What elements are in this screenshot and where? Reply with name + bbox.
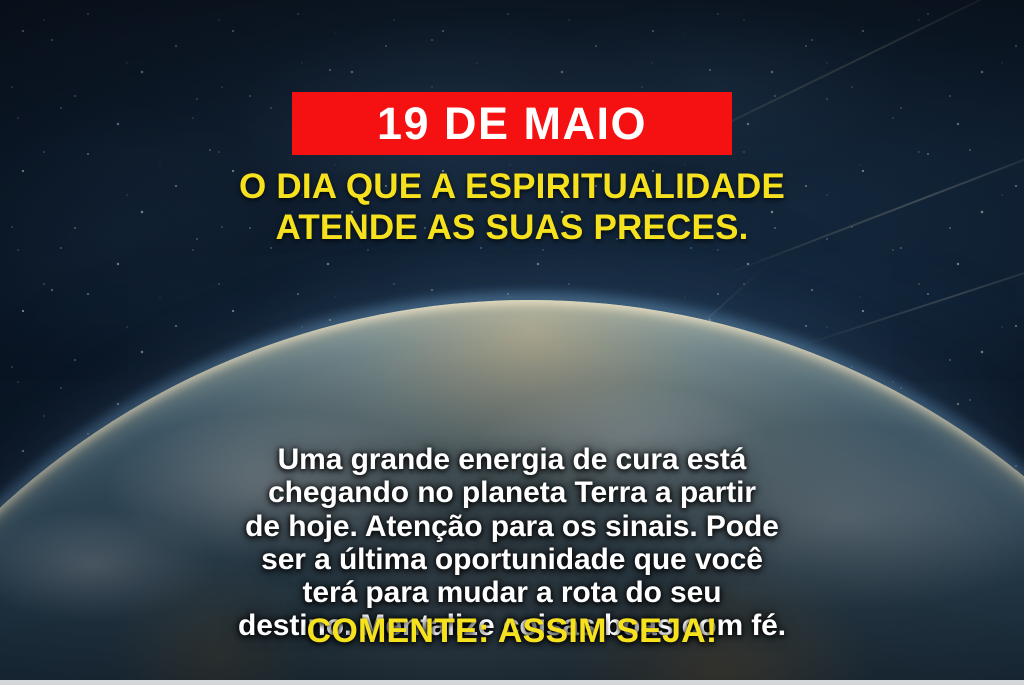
body-line-1: Uma grande energia de cura está [52, 443, 972, 476]
headline-line-2: ATENDE AS SUAS PRECES. [28, 208, 996, 249]
bottom-edge-strip [0, 680, 1024, 685]
date-banner-label: 19 DE MAIO [377, 101, 647, 146]
date-banner: 19 DE MAIO [292, 92, 732, 155]
body-line-5: terá para mudar a rota do seu [52, 576, 972, 609]
headline-line-1: O DIA QUE A ESPIRITUALIDADE [28, 167, 996, 208]
body-line-4: ser a última oportunidade que você [52, 543, 972, 576]
poster-canvas: 19 DE MAIO O DIA QUE A ESPIRITUALIDADE A… [0, 0, 1024, 685]
body-line-3: de hoje. Atenção para os sinais. Pode [52, 510, 972, 543]
call-to-action-text: COMENTE: ASSIM SEJA! [0, 613, 1024, 650]
body-line-2: chegando no planeta Terra a partir [52, 476, 972, 509]
headline: O DIA QUE A ESPIRITUALIDADE ATENDE AS SU… [0, 167, 1024, 249]
poster-content: 19 DE MAIO O DIA QUE A ESPIRITUALIDADE A… [0, 0, 1024, 685]
